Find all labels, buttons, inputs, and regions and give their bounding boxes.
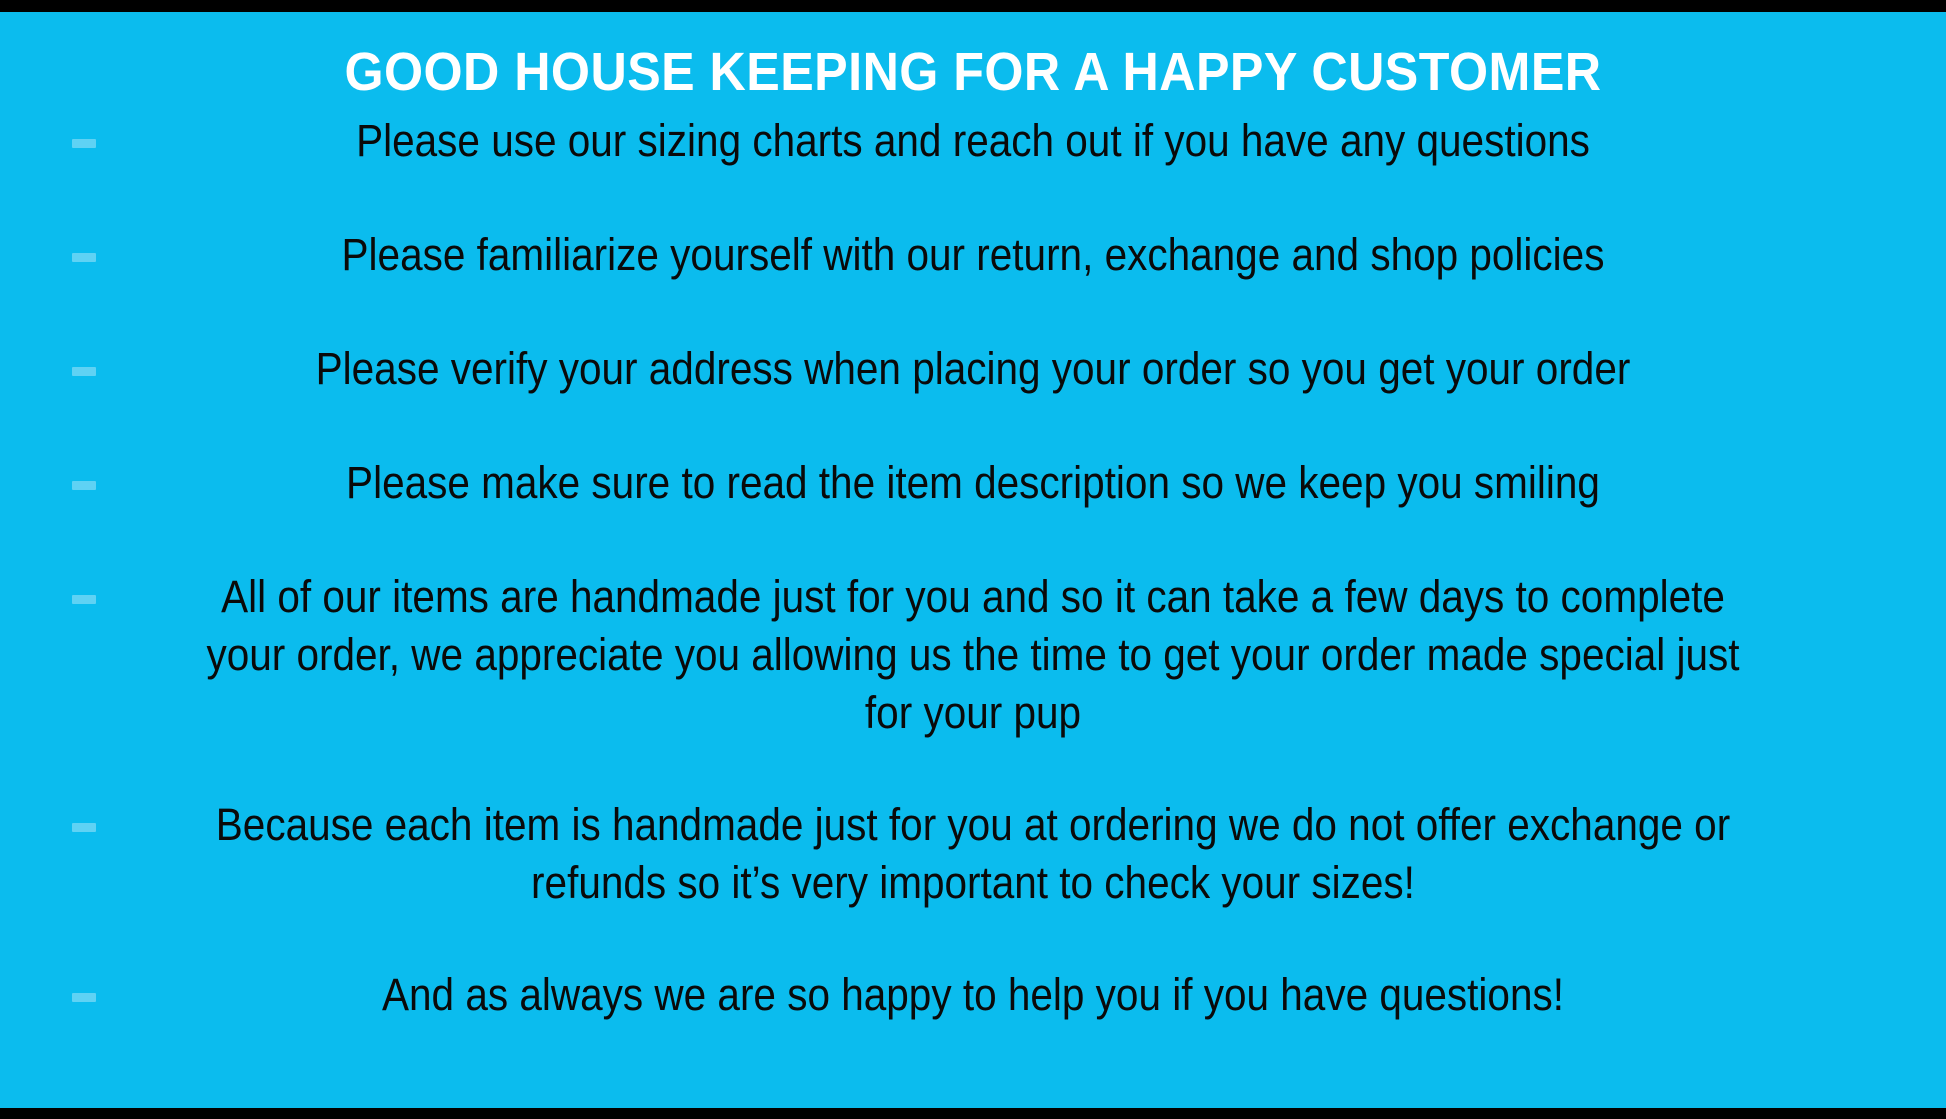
list-item: All of our items are handmade just for y…	[0, 568, 1946, 742]
slide-root: GOOD HOUSE KEEPING FOR A HAPPY CUSTOMER …	[0, 0, 1946, 1119]
bullet-list: Please use our sizing charts and reach o…	[0, 112, 1946, 1024]
list-item: Please familiarize yourself with our ret…	[0, 226, 1946, 284]
list-item-label: Please use our sizing charts and reach o…	[97, 112, 1848, 170]
spacer	[0, 742, 1946, 796]
letterbox-bar-bottom	[0, 1108, 1946, 1119]
list-item: Please verify your address when placing …	[0, 340, 1946, 398]
dash-marker-icon	[72, 367, 96, 376]
letterbox-bar-top	[0, 0, 1946, 12]
dash-marker-icon	[72, 823, 96, 832]
list-item-label: Please familiarize yourself with our ret…	[97, 226, 1848, 284]
list-item: Please use our sizing charts and reach o…	[0, 112, 1946, 170]
list-item-label: All of our items are handmade just for y…	[97, 568, 1848, 742]
page-title: GOOD HOUSE KEEPING FOR A HAPPY CUSTOMER	[68, 42, 1878, 102]
list-item-label: Because each item is handmade just for y…	[97, 796, 1848, 912]
dash-marker-icon	[72, 993, 96, 1002]
spacer	[0, 512, 1946, 568]
list-item: And as always we are so happy to help yo…	[0, 966, 1946, 1024]
spacer	[0, 284, 1946, 340]
spacer	[0, 170, 1946, 226]
list-item-label: And as always we are so happy to help yo…	[97, 966, 1848, 1024]
dash-marker-icon	[72, 595, 96, 604]
list-item: Because each item is handmade just for y…	[0, 796, 1946, 912]
list-item-label: Please make sure to read the item descri…	[97, 454, 1848, 512]
list-item: Please make sure to read the item descri…	[0, 454, 1946, 512]
slide-canvas: GOOD HOUSE KEEPING FOR A HAPPY CUSTOMER …	[0, 12, 1946, 1108]
list-item-label: Please verify your address when placing …	[97, 340, 1848, 398]
dash-marker-icon	[72, 481, 96, 490]
dash-marker-icon	[72, 253, 96, 262]
spacer	[0, 398, 1946, 454]
spacer	[0, 912, 1946, 966]
dash-marker-icon	[72, 139, 96, 148]
